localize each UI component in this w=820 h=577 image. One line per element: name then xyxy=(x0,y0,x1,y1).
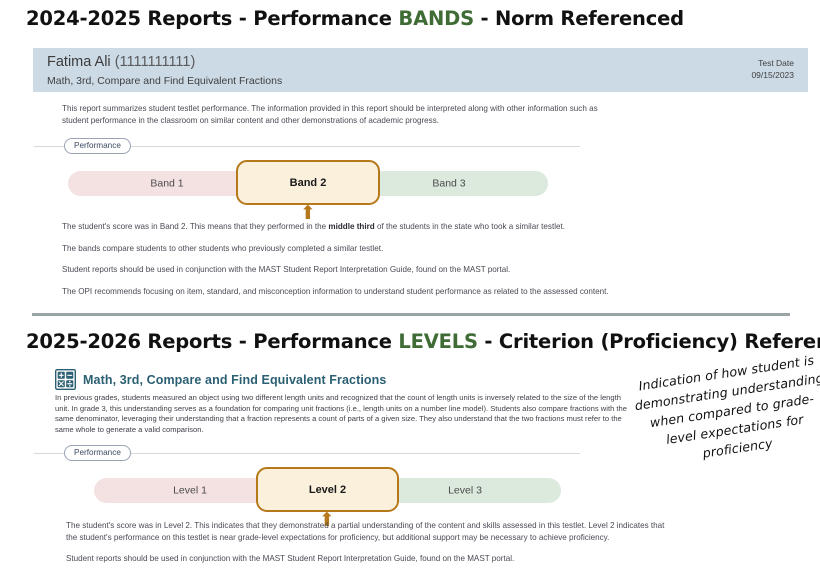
performance-legend-pill: Performance xyxy=(64,445,131,461)
bullet-item: The OPI recommends focusing on item, sta… xyxy=(62,286,662,298)
band-segment-1-label: Band 1 xyxy=(150,177,183,189)
subject-header: Math, 3rd, Compare and Find Equivalent F… xyxy=(55,369,386,390)
performance-legend-row-2: Performance xyxy=(34,445,580,461)
performance-band-bar: Band 1 Band 2 Band 3 ⬆ xyxy=(68,160,548,206)
bullet-item: The student's score was in Band 2. This … xyxy=(62,221,662,233)
test-date-label: Test Date xyxy=(751,57,794,69)
performance-legend-row-1: Performance xyxy=(34,138,580,154)
performance-level-bar: Level 1 Level 2 Level 3 ⬆ xyxy=(94,467,564,513)
band-segment-2-label: Band 2 xyxy=(290,177,327,189)
heading-2-pre: 2025-2026 Reports - Performance xyxy=(26,330,398,353)
performance-legend-pill: Performance xyxy=(64,138,131,154)
student-name-row: Fatima Ali (1111111111) xyxy=(47,54,794,70)
band-segment-3-label: Band 3 xyxy=(432,177,465,189)
bullet-item: Student reports should be used in conjun… xyxy=(62,264,662,276)
student-id: (1111111111) xyxy=(115,54,196,70)
bullet-emphasis: middle third xyxy=(328,222,374,231)
page-title-report-2025: 2025-2026 Reports - Performance LEVELS -… xyxy=(26,330,820,353)
section-divider xyxy=(32,313,790,316)
handwritten-annotation: Indication of how student is demonstrati… xyxy=(628,349,820,472)
standard-description-paragraph: In previous grades, students measured an… xyxy=(55,393,630,435)
report-2-bullets: The student's score was in Level 2. This… xyxy=(66,520,666,575)
report-1-bullets: The student's score was in Band 2. This … xyxy=(62,221,662,307)
heading-1-post: - Norm Referenced xyxy=(474,7,684,30)
report-intro-paragraph: This report summarizes student testlet p… xyxy=(62,103,622,126)
heading-2-accent: LEVELS xyxy=(398,330,477,353)
student-testlet-subtitle: Math, 3rd, Compare and Find Equivalent F… xyxy=(47,75,794,87)
level-segment-1-label: Level 1 xyxy=(173,484,207,496)
heading-2-post: - Criterion (Proficiency) Referenced xyxy=(478,330,820,353)
test-date-value: 09/15/2023 xyxy=(751,69,794,81)
student-banner: Fatima Ali (1111111111) Math, 3rd, Compa… xyxy=(33,48,808,92)
heading-1-pre: 2024-2025 Reports - Performance xyxy=(26,7,398,30)
math-operations-icon xyxy=(55,369,76,390)
test-date-block: Test Date 09/15/2023 xyxy=(751,57,794,81)
level-segment-3-label: Level 3 xyxy=(448,484,482,496)
level-segment-2-selected[interactable]: Level 2 xyxy=(256,467,399,512)
bullet-text-tail: of the students in the state who took a … xyxy=(375,222,565,231)
subject-title: Math, 3rd, Compare and Find Equivalent F… xyxy=(83,373,386,387)
level-segment-2-label: Level 2 xyxy=(309,484,346,496)
bullet-item: The bands compare students to other stud… xyxy=(62,243,662,255)
bullet-item: The student's score was in Level 2. This… xyxy=(66,520,666,543)
band-segment-2-selected[interactable]: Band 2 xyxy=(236,160,380,205)
page-title-report-2024: 2024-2025 Reports - Performance BANDS - … xyxy=(26,7,684,30)
student-name: Fatima Ali xyxy=(47,54,111,70)
bullet-text: The student's score was in Band 2. This … xyxy=(62,222,328,231)
bullet-item: Student reports should be used in conjun… xyxy=(66,553,666,565)
standard-description-text: In previous grades, students measured an… xyxy=(55,393,630,435)
heading-1-accent: BANDS xyxy=(398,7,474,30)
